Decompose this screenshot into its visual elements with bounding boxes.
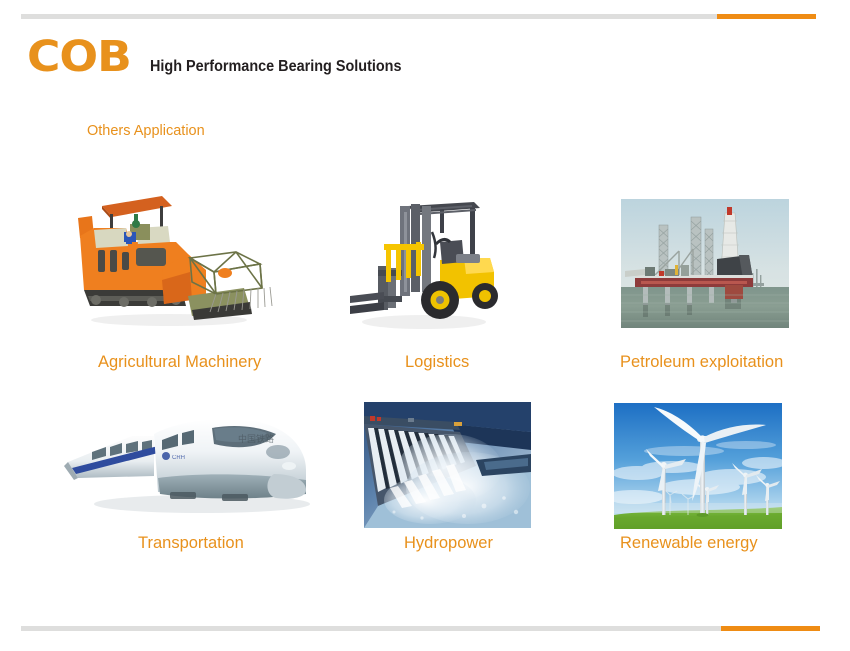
top-rule-orange-segment — [717, 14, 816, 19]
logo-tagline: High Performance Bearing Solutions — [150, 59, 402, 75]
application-card-agricultural-machinery: Agricultural Machinery — [0, 160, 330, 385]
svg-text:CRH: CRH — [172, 455, 185, 461]
brand-logo-block: COB High Performance Bearing Solutions — [27, 37, 420, 77]
slide-canvas: COB High Performance Bearing Solutions O… — [0, 0, 850, 651]
logo-wordmark: COB — [27, 37, 131, 77]
bottom-rule-orange-segment — [721, 626, 820, 631]
bottom-rule-grey-segment — [21, 626, 722, 631]
bottom-rule-bar — [0, 626, 850, 631]
combine-harvester-image — [64, 184, 309, 334]
card-caption-renewable-energy: Renewable energy — [620, 534, 758, 553]
application-card-renewable-energy: Renewable energy — [600, 400, 850, 590]
card-caption-logistics: Logistics — [405, 353, 469, 372]
application-card-petroleum-exploitation: Petroleum exploitation — [600, 160, 850, 385]
forklift-image — [344, 192, 509, 334]
card-caption-petroleum-exploitation: Petroleum exploitation — [620, 353, 783, 372]
card-caption-hydropower: Hydropower — [404, 534, 493, 553]
card-caption-transportation: Transportation — [138, 534, 244, 553]
application-card-transportation: 中国铁路 CRH Transportation — [0, 400, 330, 590]
dam-spillway-image — [364, 402, 531, 528]
card-caption-agricultural-machinery: Agricultural Machinery — [98, 353, 261, 372]
application-card-hydropower: Hydropower — [330, 400, 600, 590]
svg-text:中国铁路: 中国铁路 — [238, 433, 274, 445]
application-card-logistics: Logistics — [330, 160, 600, 385]
top-rule-grey-segment — [21, 14, 718, 19]
offshore-oil-rig-image — [620, 198, 790, 329]
high-speed-train-image: 中国铁路 CRH — [62, 400, 312, 520]
wind-turbine-farm-image — [614, 403, 782, 529]
section-title: Others Application — [87, 123, 205, 139]
top-rule-bar — [0, 14, 850, 19]
